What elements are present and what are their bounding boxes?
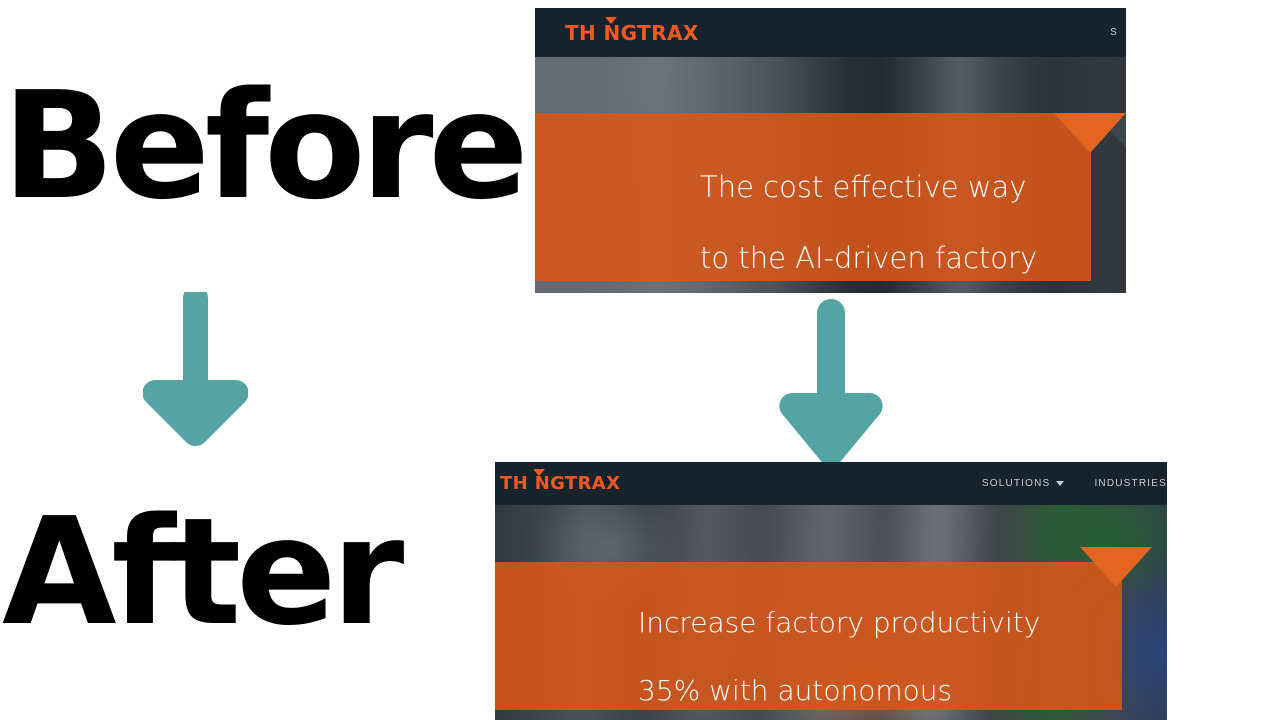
triangle-i-icon bbox=[605, 17, 617, 24]
screenshot-after[interactable]: TH NGTRAX SOLUTIONS INDUSTRIES Increase … bbox=[495, 462, 1167, 720]
hero-orange-band-after: Increase factory productivity 35% with a… bbox=[495, 562, 1122, 710]
hero-headline-before: The cost effective way to the AI-driven … bbox=[700, 135, 1100, 293]
hero-line-1: The cost effective way bbox=[700, 170, 1100, 205]
screenshot-before[interactable]: TH NGTRAX S The cost effective way to th… bbox=[535, 8, 1126, 293]
down-arrow-icon-right bbox=[779, 297, 883, 469]
after-label: After bbox=[2, 498, 399, 646]
hero-orange-band-before: The cost effective way to the AI-driven … bbox=[535, 113, 1091, 281]
nav-link-solutions-truncated[interactable]: S bbox=[1110, 27, 1118, 38]
down-arrow-icon-left bbox=[143, 292, 248, 450]
orange-triangle-icon-after bbox=[1080, 547, 1152, 587]
chevron-down-icon bbox=[1056, 481, 1064, 486]
hero-line-1-after: Increase factory productivity bbox=[638, 606, 1068, 640]
nav-links-after: SOLUTIONS INDUSTRIES bbox=[982, 478, 1167, 489]
hero-line-2-after: 35% with autonomous bbox=[638, 674, 1068, 708]
logo-text: TH NGTRAX bbox=[565, 21, 699, 45]
thingtrax-logo-after[interactable]: TH NGTRAX bbox=[500, 473, 620, 494]
hero-headline-after[interactable]: Increase factory productivity 35% with a… bbox=[638, 572, 1068, 720]
triangle-i-icon-after bbox=[533, 469, 545, 476]
orange-triangle-icon bbox=[1054, 113, 1126, 153]
nav-link-solutions[interactable]: SOLUTIONS bbox=[982, 478, 1065, 489]
thingtrax-logo[interactable]: TH NGTRAX bbox=[565, 21, 699, 45]
before-label: Before bbox=[2, 72, 524, 220]
nav-link-industries[interactable]: INDUSTRIES bbox=[1094, 478, 1167, 489]
site-navbar-before: TH NGTRAX S bbox=[535, 8, 1126, 57]
nav-links-before: S bbox=[1110, 27, 1118, 38]
nav-link-solutions-label: SOLUTIONS bbox=[982, 478, 1051, 489]
logo-text-after: TH NGTRAX bbox=[500, 473, 620, 494]
site-navbar-after: TH NGTRAX SOLUTIONS INDUSTRIES bbox=[495, 462, 1167, 505]
hero-line-2: to the AI-driven factory bbox=[700, 241, 1100, 276]
